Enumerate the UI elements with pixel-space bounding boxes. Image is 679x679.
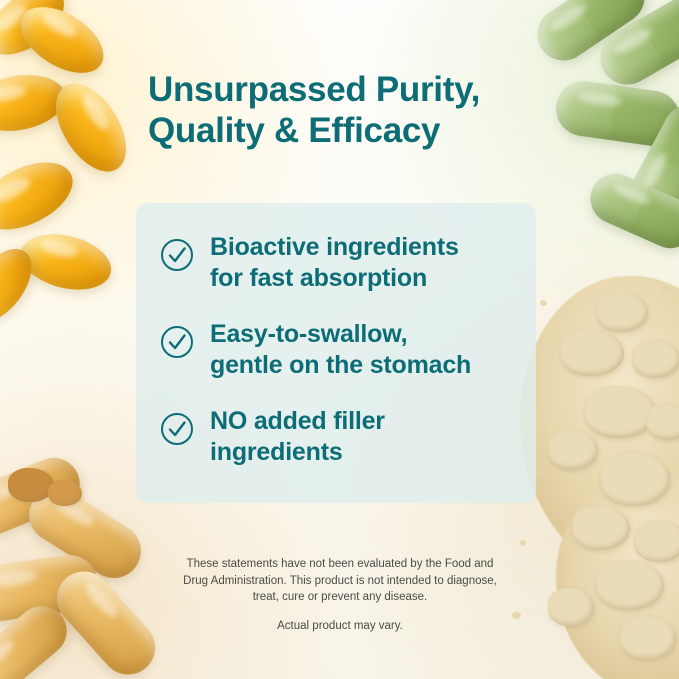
check-circle-icon xyxy=(160,238,194,272)
feature-text: NO added filler ingredients xyxy=(210,406,385,467)
check-circle-icon xyxy=(160,325,194,359)
feature-list: Bioactive ingredients for fast absorptio… xyxy=(160,232,530,467)
content-layer: Unsurpassed Purity, Quality & Efficacy B… xyxy=(0,0,679,679)
product-infographic: Unsurpassed Purity, Quality & Efficacy B… xyxy=(0,0,679,679)
list-item: Bioactive ingredients for fast absorptio… xyxy=(160,232,530,293)
page-title: Unsurpassed Purity, Quality & Efficacy xyxy=(148,70,568,152)
feature-text: Easy-to-swallow, gentle on the stomach xyxy=(210,319,471,380)
fda-disclaimer: These statements have not been evaluated… xyxy=(140,556,540,606)
list-item: Easy-to-swallow, gentle on the stomach xyxy=(160,319,530,380)
list-item: NO added filler ingredients xyxy=(160,406,530,467)
product-variation-note: Actual product may vary. xyxy=(140,620,540,632)
check-circle-icon xyxy=(160,412,194,446)
feature-text: Bioactive ingredients for fast absorptio… xyxy=(210,232,459,293)
